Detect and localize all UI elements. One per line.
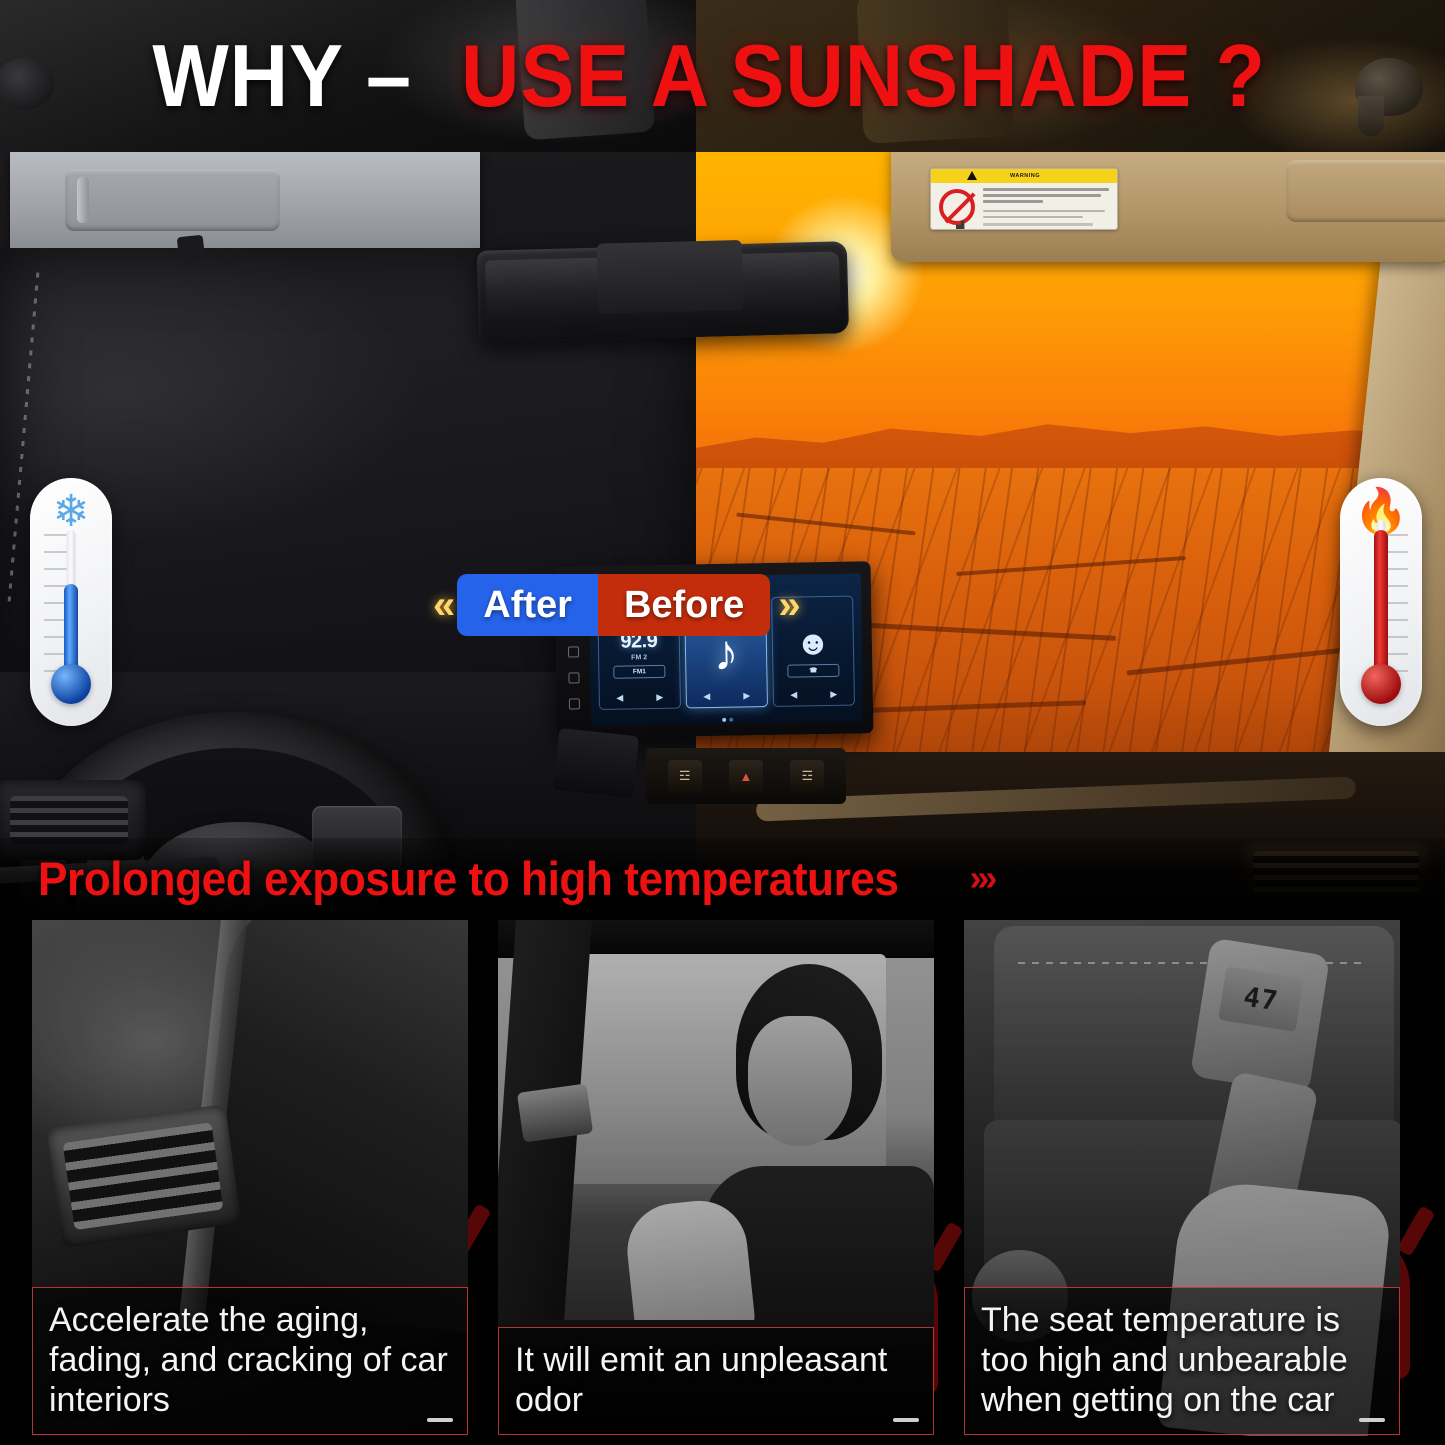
chevron-left-icon: « xyxy=(425,583,457,628)
rearview-mirror-stalk xyxy=(177,235,206,264)
hero-comparison: WARNING xyxy=(0,152,1445,914)
radio-controls[interactable]: ◀ ▶ xyxy=(600,692,680,704)
visor-ticket-slot-cool xyxy=(65,169,280,231)
radio-band: FM 2 xyxy=(631,654,647,661)
desert-crack xyxy=(736,513,915,536)
desert-crack xyxy=(956,556,1186,576)
media-prev-icon[interactable]: ◀ xyxy=(703,691,710,702)
dashboard-vent-shape xyxy=(47,1104,242,1248)
radio-next-icon[interactable]: ▶ xyxy=(656,692,663,703)
sun-visor-cool xyxy=(10,152,480,258)
child-seat-glyph xyxy=(956,221,970,230)
seat-heater-left-button[interactable]: ☲ xyxy=(668,760,702,792)
infographic-page: WHY – USE A SUNSHADE ? xyxy=(0,0,1445,1445)
infotainment-page-dots[interactable] xyxy=(591,715,863,724)
phone-prev-icon[interactable]: ◀ xyxy=(790,690,797,701)
rearview-mirror-housing xyxy=(597,240,744,314)
caption-text-2: It will emit an unpleasant odor xyxy=(515,1340,917,1420)
media-next-icon[interactable]: ▶ xyxy=(743,690,750,701)
caption-underscore xyxy=(1359,1418,1385,1422)
infotainment-mount xyxy=(553,728,639,798)
radio-prev-icon[interactable]: ◀ xyxy=(616,693,623,704)
warning-triangle-icon xyxy=(967,171,977,180)
headline-text: Prolonged exposure to high temperatures xyxy=(38,851,899,906)
headline-chevrons-icon: ››› xyxy=(969,857,993,899)
caption-box-2: It will emit an unpleasant odor xyxy=(498,1327,934,1435)
phone-controls[interactable]: ◀ ▶ xyxy=(774,689,854,701)
man-face xyxy=(748,1016,852,1146)
heat-mark-ray xyxy=(1397,1205,1436,1256)
title-use-a-sunshade: USE A SUNSHADE ? xyxy=(461,32,1266,120)
phone-next-icon[interactable]: ▶ xyxy=(830,689,837,700)
cold-thermometer: ❄ xyxy=(30,478,112,726)
temperature-reading: 47 xyxy=(1242,981,1281,1017)
thermometer-bulb-hot xyxy=(1361,664,1401,704)
hazard-lights-button[interactable]: ▲ xyxy=(729,760,763,792)
media-controls[interactable]: ◀ ▶ xyxy=(687,690,767,702)
page-title: WHY – USE A SUNSHADE ? xyxy=(0,0,1445,152)
title-why: WHY xyxy=(152,32,344,120)
warning-label-header: WARNING xyxy=(931,169,1118,183)
rearview-mirror xyxy=(477,241,849,343)
warning-label-text-lines xyxy=(983,188,1111,229)
chevron-right-icon: » xyxy=(770,583,802,628)
title-dash: – xyxy=(366,32,412,120)
benefits-panels: 47 Accelerate the aging, fading, and cra… xyxy=(0,912,1445,1445)
home-button-icon[interactable] xyxy=(568,672,579,683)
side-mirror xyxy=(517,1083,593,1142)
center-console-buttons[interactable]: ☲ ▲ ☲ xyxy=(646,748,846,804)
caption-box-1: Accelerate the aging, fading, and cracki… xyxy=(32,1287,468,1435)
caption-box-3: The seat temperature is too high and unb… xyxy=(964,1287,1400,1435)
menu-button-icon[interactable] xyxy=(568,698,579,709)
phone-call-button[interactable]: ☎ xyxy=(787,663,839,677)
warning-label-title: WARNING xyxy=(1010,173,1040,179)
header-banner: WHY – USE A SUNSHADE ? xyxy=(0,0,1445,152)
before-badge[interactable]: Before xyxy=(598,574,770,636)
mute-button-icon[interactable] xyxy=(567,647,578,658)
caption-text-1: Accelerate the aging, fading, and cracki… xyxy=(49,1300,451,1420)
seat-heater-right-button[interactable]: ☲ xyxy=(790,760,824,792)
thermometer-mercury-hot xyxy=(1374,530,1388,676)
caption-underscore xyxy=(893,1418,919,1422)
caption-text-3: The seat temperature is too high and unb… xyxy=(981,1300,1383,1420)
after-badge[interactable]: After xyxy=(457,574,598,636)
seat-backrest xyxy=(994,926,1394,1126)
radio-preset[interactable]: FM1 xyxy=(613,665,665,679)
before-after-badges: « After Before » xyxy=(425,570,955,640)
no-child-seat-icon xyxy=(939,189,975,225)
page-dot-active[interactable] xyxy=(722,718,726,722)
headline-bar: Prolonged exposure to high temperatures … xyxy=(0,838,1445,918)
hot-thermometer: 🔥 xyxy=(1340,478,1422,726)
desert-crack xyxy=(1126,645,1365,675)
caption-underscore xyxy=(427,1418,453,1422)
visor-ticket-slot-hot xyxy=(1286,160,1445,222)
airbag-warning-label: WARNING xyxy=(930,168,1118,230)
page-dot[interactable] xyxy=(729,718,733,722)
snowflake-icon: ❄ xyxy=(30,490,112,534)
thermometer-bulb-cold xyxy=(51,664,91,704)
thermometer-mercury-cold xyxy=(64,584,78,676)
